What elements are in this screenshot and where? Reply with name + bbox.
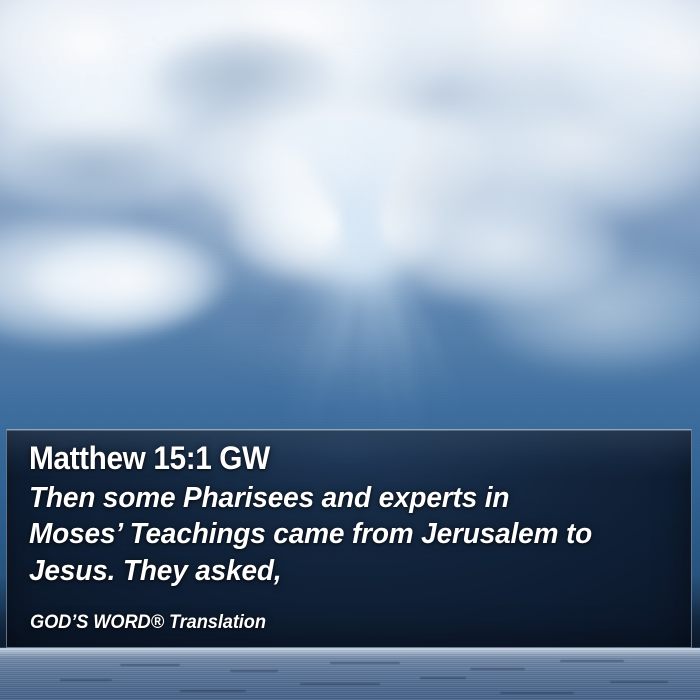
verse-line-2: Moses’ Teachings came from Jerusalem to	[29, 516, 649, 553]
verse-line-3: Jesus. They asked,	[29, 553, 649, 590]
wave-streaks	[0, 648, 700, 700]
ocean	[0, 648, 700, 700]
verse-reference: Matthew 15:1 GW	[29, 442, 626, 475]
verse-line-1: Then some Pharisees and experts in	[29, 480, 649, 517]
translation-attribution: GOD’S WORD® Translation	[30, 612, 266, 634]
verse-image: Matthew 15:1 GW Then some Pharisees and …	[0, 0, 700, 700]
verse-overlay-panel: Matthew 15:1 GW Then some Pharisees and …	[6, 429, 692, 648]
verse-text: Then some Pharisees and experts in Moses…	[29, 480, 649, 590]
